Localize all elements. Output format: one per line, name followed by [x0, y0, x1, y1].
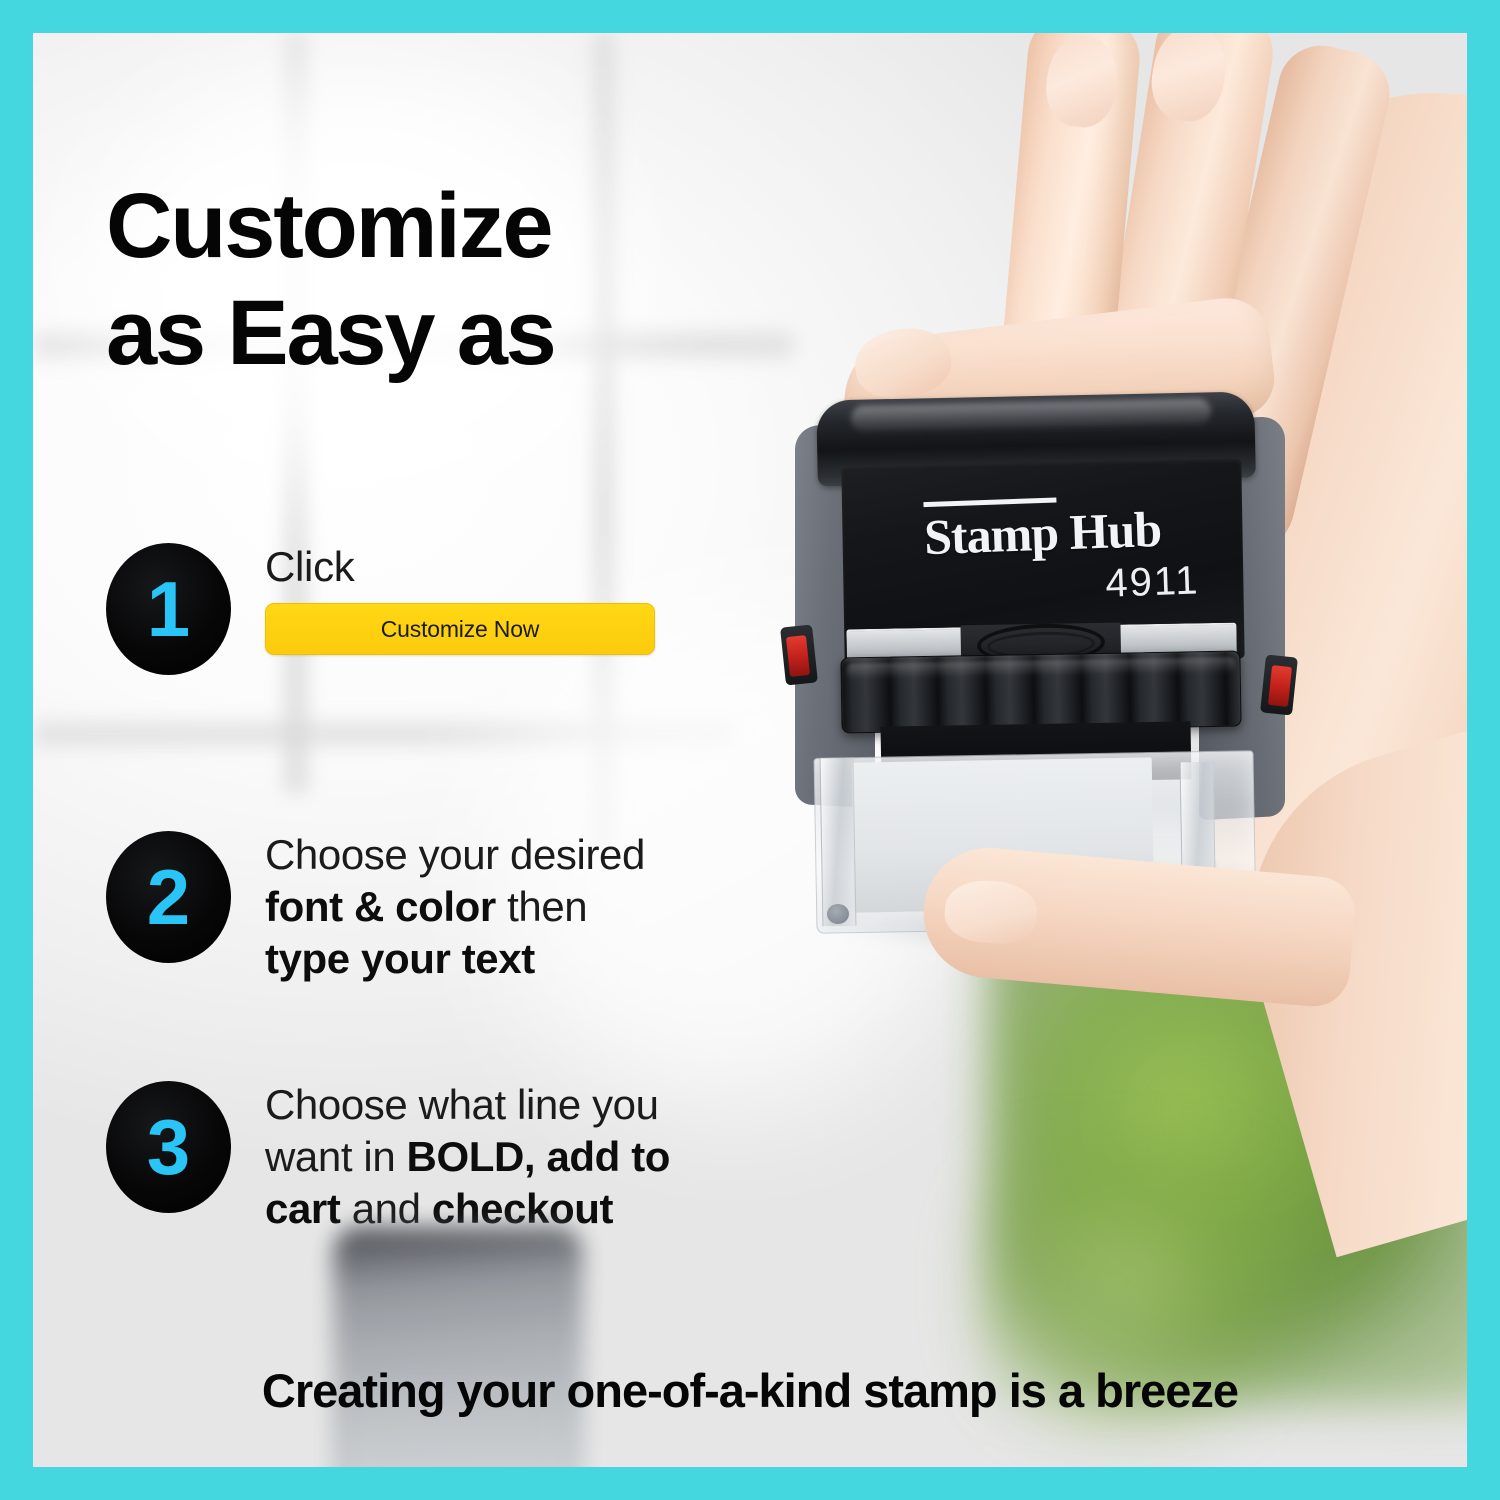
window-frame-line: [283, 33, 309, 793]
step-3-want-in: want in: [265, 1133, 407, 1180]
customize-now-button[interactable]: Customize Now: [265, 603, 655, 655]
headline-line-2: as Easy as: [106, 280, 806, 387]
step-2-line-3: type your text: [265, 933, 645, 985]
step-1-label: Click: [265, 543, 655, 591]
right-lock-button[interactable]: [1268, 665, 1292, 707]
stamp-base-post-left: [820, 758, 857, 927]
infographic-canvas: Customize as Easy as 1 Click Customize N…: [0, 0, 1500, 1500]
step-badge-3: 3: [106, 1081, 231, 1213]
page-title: Customize as Easy as: [106, 173, 806, 386]
step-3-and: and: [340, 1185, 431, 1232]
step-body-1: Click Customize Now: [265, 543, 655, 655]
step-badge-2: 2: [106, 831, 231, 963]
step-body-3: Choose what line you want in BOLD, add t…: [265, 1073, 670, 1235]
step-body-2: Choose your desired font & color then ty…: [265, 823, 645, 985]
left-lock-button[interactable]: [786, 635, 810, 677]
brand-logo: Stamp Hub: [841, 491, 1243, 569]
tagline: Creating your one-of-a-kind stamp is a b…: [33, 1363, 1467, 1418]
step-item-2: 2 Choose your desired font & color then …: [106, 823, 645, 985]
step-2-then: then: [496, 883, 587, 930]
headline-line-1: Customize: [106, 175, 551, 277]
photo-area: Customize as Easy as 1 Click Customize N…: [33, 33, 1467, 1467]
step-item-1: 1 Click Customize Now: [106, 543, 655, 675]
step-3-bold-checkout: checkout: [432, 1185, 613, 1232]
step-2-line-2: font & color then: [265, 881, 645, 933]
step-badge-1: 1: [106, 543, 231, 675]
step-3-bold-cart: cart: [265, 1185, 340, 1232]
step-2-bold-font-color: font & color: [265, 883, 496, 930]
step-3-line-1: Choose what line you: [265, 1079, 670, 1131]
step-2-line-1: Choose your desired: [265, 829, 645, 881]
step-3-bold-add-to: BOLD, add to: [407, 1133, 671, 1180]
step-2-bold-type-text: type your text: [265, 935, 535, 982]
step-3-line-2: want in BOLD, add to: [265, 1131, 670, 1183]
brand-word-2: Hub: [1069, 501, 1162, 560]
step-item-3: 3 Choose what line you want in BOLD, add…: [106, 1073, 670, 1235]
brand-word-1: Stamp: [923, 497, 1059, 566]
window-frame-line: [33, 723, 733, 745]
model-number: 4911: [1105, 558, 1201, 606]
